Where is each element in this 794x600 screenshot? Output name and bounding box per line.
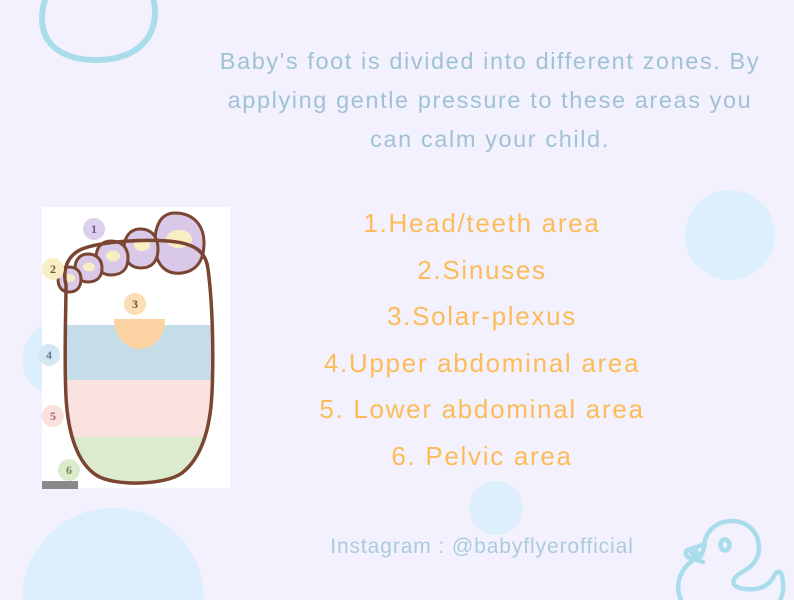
zone-badge-6: 6 bbox=[58, 459, 80, 481]
zone-badge-3: 3 bbox=[124, 293, 146, 315]
foot-diagram-card bbox=[42, 207, 230, 488]
foot-diagram bbox=[42, 207, 230, 488]
contact-instagram: Instagram : @babyflyerofficial bbox=[248, 532, 716, 561]
zone-list-item-2: 2.Sinuses bbox=[248, 247, 716, 294]
zone-list-item-4: 4.Upper abdominal area bbox=[248, 340, 716, 387]
zone-badge-2: 2 bbox=[42, 258, 64, 280]
zone-list-item-5: 5. Lower abdominal area bbox=[248, 386, 716, 433]
zone-badge-4: 4 bbox=[38, 344, 60, 366]
contact-block: Instagram : @babyflyerofficial Visit us … bbox=[248, 474, 716, 600]
zone-list-item-1: 1.Head/teeth area bbox=[248, 200, 716, 247]
zone-badge-5: 5 bbox=[42, 405, 64, 427]
zone-list-item-3: 3.Solar-plexus bbox=[248, 293, 716, 340]
toe-pad-fourth bbox=[83, 263, 95, 272]
toe-pad-third bbox=[106, 251, 120, 262]
duck-icon-top-left bbox=[24, 0, 174, 72]
zone-list: 1.Head/teeth area 2.Sinuses 3.Solar-plex… bbox=[248, 200, 716, 479]
poster-canvas: Baby's foot is divided into different zo… bbox=[0, 0, 794, 600]
zone-list-item-6: 6. Pelvic area bbox=[248, 433, 716, 480]
zone-badge-1: 1 bbox=[83, 218, 105, 240]
decor-circle-bottom-left bbox=[22, 508, 204, 600]
watermark-bar bbox=[42, 481, 78, 489]
intro-paragraph: Baby's foot is divided into different zo… bbox=[212, 42, 768, 159]
